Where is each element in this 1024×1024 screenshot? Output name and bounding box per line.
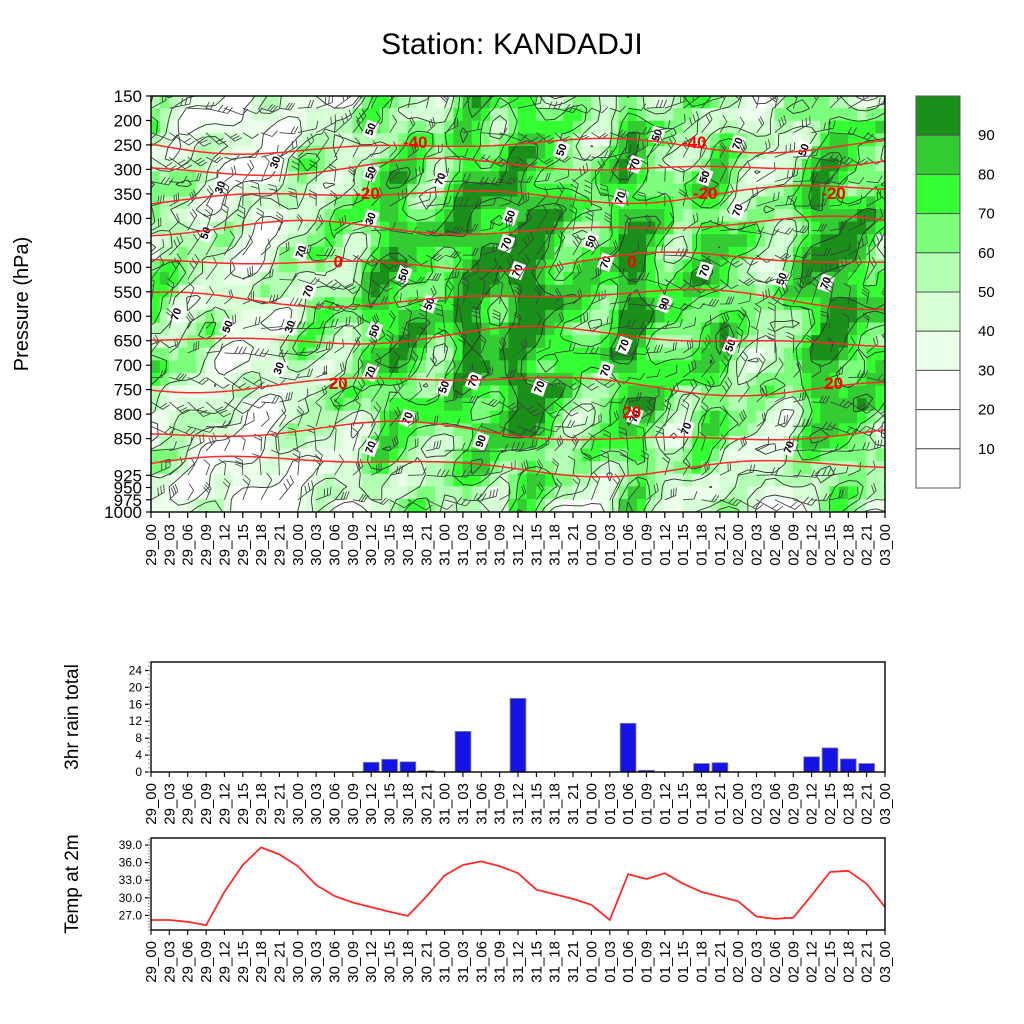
x-tick-label: 01_18 (694, 524, 711, 566)
x-tick-label: 31_06 (473, 783, 490, 825)
temp-tick-label: 36.0 (119, 856, 143, 870)
x-tick-label: 30_15 (382, 524, 399, 566)
colorbar-tick-label: 10 (978, 441, 995, 458)
x-tick-label: 31_21 (565, 941, 582, 983)
x-tick-label: 30_03 (308, 941, 325, 983)
temperature-contour-label: 0 (627, 252, 636, 271)
x-tick-label: 01_21 (712, 941, 729, 983)
rain-tick-label: 20 (129, 680, 143, 694)
x-tick-label: 02_09 (785, 941, 802, 983)
rain-x-axis: 29_0029_0329_0629_0929_1229_1529_1829_21… (143, 772, 894, 825)
rain-bar (510, 698, 526, 772)
x-tick-label: 02_09 (785, 783, 802, 825)
pressure-tick-label: 800 (114, 405, 142, 424)
rain-bar (712, 763, 728, 772)
x-tick-label: 01_21 (712, 524, 729, 566)
x-tick-label: 02_21 (859, 783, 876, 825)
x-tick-label: 29_12 (216, 524, 233, 566)
x-tick-label: 29_00 (143, 524, 160, 566)
x-tick-label: 30_18 (400, 941, 417, 983)
x-tick-label: 31_03 (455, 783, 472, 825)
x-tick-label: 30_15 (382, 941, 399, 983)
temperature-contour-label: 20 (329, 374, 348, 393)
x-tick-label: 29_18 (253, 941, 270, 983)
x-tick-label: 01_21 (712, 783, 729, 825)
pressure-tick-label: 850 (114, 430, 142, 449)
x-tick-label: 30_18 (400, 524, 417, 566)
temperature-contour-label: -20 (355, 184, 380, 203)
x-tick-label: 30_03 (308, 783, 325, 825)
x-tick-label: 31_03 (455, 524, 472, 566)
x-tick-label: 29_21 (271, 524, 288, 566)
pressure-axis: 1502002503003504004505005506006507007508… (104, 87, 151, 522)
pressure-tick-label: 150 (114, 87, 142, 106)
colorbar-tick-label: 90 (978, 127, 995, 144)
temp-tick-label: 39.0 (119, 838, 143, 852)
temp-tick-label: 27.0 (119, 908, 143, 922)
x-tick-label: 29_21 (271, 941, 288, 983)
colorbar: 908070605040302010 (916, 96, 995, 488)
x-tick-label: 02_06 (767, 941, 784, 983)
x-tick-label: 02_21 (859, 941, 876, 983)
x-tick-label: 31_00 (437, 783, 454, 825)
x-tick-label: 30_12 (363, 783, 380, 825)
x-tick-label: 30_00 (290, 941, 307, 983)
temp-tick-label: 33.0 (119, 873, 143, 887)
x-tick-label: 29_03 (161, 783, 178, 825)
rain-tick-label: 4 (135, 748, 142, 762)
rain-bar (804, 757, 820, 772)
x-tick-label: 02_09 (785, 524, 802, 566)
x-tick-label: 29_21 (271, 783, 288, 825)
pressure-tick-label: 400 (114, 209, 142, 228)
x-tick-label: 29_00 (143, 783, 160, 825)
x-tick-label: 30_21 (418, 941, 435, 983)
x-tick-label: 30_21 (418, 783, 435, 825)
x-tick-label: 03_00 (877, 524, 894, 566)
x-tick-label: 02_21 (859, 524, 876, 566)
x-tick-label: 02_12 (804, 524, 821, 566)
x-tick-label: 29_03 (161, 524, 178, 566)
x-tick-label: 01_03 (602, 941, 619, 983)
x-tick-label: 01_00 (583, 941, 600, 983)
rain-axis-label: 3hr rain total (62, 664, 83, 770)
x-tick-label: 30_15 (382, 783, 399, 825)
x-tick-label: 31_12 (510, 783, 527, 825)
x-tick-label: 29_00 (143, 941, 160, 983)
x-tick-label: 02_12 (804, 941, 821, 983)
x-tick-label: 31_15 (528, 524, 545, 566)
colorbar-tick-label: 50 (978, 284, 995, 301)
rain-tick-label: 8 (135, 731, 142, 745)
x-tick-label: 31_09 (492, 941, 509, 983)
x-tick-label: 02_00 (730, 524, 747, 566)
rain-bar (620, 723, 636, 772)
x-tick-label: 31_00 (437, 524, 454, 566)
x-tick-label: 29_03 (161, 941, 178, 983)
x-tick-label: 31_21 (565, 524, 582, 566)
colorbar-tick-label: 60 (978, 245, 995, 262)
x-tick-label: 30_09 (345, 941, 362, 983)
colorbar-tick-label: 80 (978, 166, 995, 183)
x-tick-label: 30_06 (327, 941, 344, 983)
x-tick-label: 01_09 (639, 941, 656, 983)
temperature-contour-label: -40 (682, 133, 707, 152)
x-tick-label: 30_12 (363, 524, 380, 566)
x-tick-label: 29_15 (235, 783, 252, 825)
page-title: Station: KANDADJI (0, 28, 1024, 62)
pressure-tick-label: 550 (114, 283, 142, 302)
pressure-tick-label: 450 (114, 234, 142, 253)
temp-plot-background (151, 838, 885, 930)
x-tick-label: 29_18 (253, 524, 270, 566)
pressure-tick-label: 500 (114, 258, 142, 277)
temp-y-axis: 27.030.033.036.039.0 (119, 838, 151, 930)
x-tick-label: 01_18 (694, 783, 711, 825)
x-tick-label: 03_00 (877, 941, 894, 983)
upper-panel: 5030305070503050707050907050305070507070… (0, 78, 1024, 618)
x-tick-label: 29_12 (216, 783, 233, 825)
x-tick-label: 02_15 (822, 783, 839, 825)
x-tick-label: 29_06 (180, 524, 197, 566)
x-tick-label: 31_00 (437, 941, 454, 983)
rain-bar (363, 762, 379, 772)
rain-tick-label: 0 (135, 765, 142, 779)
x-tick-label: 31_12 (510, 524, 527, 566)
lower-panels: 048121620243hr rain total29_0029_0329_06… (0, 640, 1024, 1024)
x-tick-label: 02_03 (749, 524, 766, 566)
x-tick-label: 31_12 (510, 941, 527, 983)
temp-x-axis: 29_0029_0329_0629_0929_1229_1529_1829_21… (143, 930, 894, 983)
x-tick-label: 30_18 (400, 783, 417, 825)
colorbar-tick-label: 20 (978, 402, 995, 419)
colorbar-tick-label: 40 (978, 323, 995, 340)
screenshot-root: Station: KANDADJI 5030305070503050707050… (0, 0, 1024, 1024)
x-tick-label: 30_06 (327, 524, 344, 566)
pressure-tick-label: 200 (114, 112, 142, 131)
x-tick-label: 02_03 (749, 941, 766, 983)
pressure-tick-label: 750 (114, 381, 142, 400)
x-tick-label: 01_12 (657, 941, 674, 983)
x-tick-label: 01_06 (620, 783, 637, 825)
temperature-contour-label: -20 (693, 184, 718, 203)
pressure-tick-label: 600 (114, 307, 142, 326)
x-tick-label: 31_15 (528, 783, 545, 825)
x-tick-label: 01_09 (639, 524, 656, 566)
x-tick-label: 31_06 (473, 524, 490, 566)
x-tick-label: 01_18 (694, 941, 711, 983)
x-tick-label: 01_12 (657, 524, 674, 566)
x-tick-label: 29_09 (198, 941, 215, 983)
x-tick-label: 01_03 (602, 524, 619, 566)
temp-tick-label: 30.0 (119, 891, 143, 905)
x-tick-label: 31_09 (492, 783, 509, 825)
x-tick-label: 31_09 (492, 524, 509, 566)
x-tick-label: 02_15 (822, 941, 839, 983)
x-tick-label: 01_06 (620, 524, 637, 566)
x-tick-label: 31_06 (473, 941, 490, 983)
x-tick-label: 02_03 (749, 783, 766, 825)
x-tick-label: 29_09 (198, 524, 215, 566)
x-tick-label: 01_15 (675, 783, 692, 825)
pressure-tick-label: 350 (114, 185, 142, 204)
x-tick-label: 31_18 (547, 941, 564, 983)
rain-bar (822, 748, 838, 772)
x-tick-label: 29_06 (180, 783, 197, 825)
rain-tick-label: 16 (129, 697, 143, 711)
x-tick-label: 01_15 (675, 941, 692, 983)
temp-axis-label: Temp at 2m (62, 834, 83, 933)
temperature-contour-label: 0 (333, 252, 342, 271)
rain-bar (400, 762, 416, 772)
x-tick-label: 31_21 (565, 783, 582, 825)
rain-bar (840, 759, 856, 772)
x-tick-label: 01_00 (583, 524, 600, 566)
x-tick-label: 31_18 (547, 524, 564, 566)
pressure-tick-label: 300 (114, 160, 142, 179)
rain-tick-label: 12 (129, 714, 143, 728)
x-tick-label: 02_15 (822, 524, 839, 566)
x-tick-label: 01_00 (583, 783, 600, 825)
x-tick-label: 02_18 (840, 941, 857, 983)
x-axis: 29_0029_0329_0629_0929_1229_1529_1829_21… (143, 512, 894, 566)
x-tick-label: 30_06 (327, 783, 344, 825)
x-tick-label: 30_00 (290, 783, 307, 825)
x-tick-label: 02_06 (767, 783, 784, 825)
x-tick-label: 29_06 (180, 941, 197, 983)
x-tick-label: 01_03 (602, 783, 619, 825)
rain-bar (694, 764, 710, 773)
x-tick-label: 02_18 (840, 783, 857, 825)
temperature-contour-label: 20 (622, 403, 641, 422)
x-tick-label: 30_03 (308, 524, 325, 566)
rain-bar (455, 731, 471, 772)
rain-y-axis: 04812162024 (129, 662, 151, 779)
temperature-contour-label: -20 (821, 184, 846, 203)
x-tick-label: 29_18 (253, 783, 270, 825)
rain-bar (859, 764, 875, 773)
temperature-contour-label: -40 (403, 133, 428, 152)
x-tick-label: 02_06 (767, 524, 784, 566)
x-tick-label: 30_09 (345, 783, 362, 825)
x-tick-label: 30_00 (290, 524, 307, 566)
x-tick-label: 02_00 (730, 783, 747, 825)
pressure-tick-label: 1000 (104, 503, 142, 522)
x-tick-label: 29_12 (216, 941, 233, 983)
x-tick-label: 02_12 (804, 783, 821, 825)
x-tick-label: 29_15 (235, 524, 252, 566)
x-tick-label: 31_03 (455, 941, 472, 983)
temperature-contour-label: 20 (824, 374, 843, 393)
x-tick-label: 29_15 (235, 941, 252, 983)
x-tick-label: 02_18 (840, 524, 857, 566)
x-tick-label: 01_06 (620, 941, 637, 983)
rain-bar (382, 759, 398, 772)
x-tick-label: 31_18 (547, 783, 564, 825)
x-tick-label: 01_15 (675, 524, 692, 566)
x-tick-label: 03_00 (877, 783, 894, 825)
pressure-tick-label: 250 (114, 136, 142, 155)
pressure-axis-label: Pressure (hPa) (11, 237, 33, 372)
x-tick-label: 02_00 (730, 941, 747, 983)
x-tick-label: 31_15 (528, 941, 545, 983)
x-tick-label: 01_12 (657, 783, 674, 825)
rain-tick-label: 24 (129, 664, 143, 678)
x-tick-label: 30_12 (363, 941, 380, 983)
colorbar-tick-label: 70 (978, 206, 995, 223)
pressure-tick-label: 700 (114, 356, 142, 375)
x-tick-label: 30_21 (418, 524, 435, 566)
colorbar-tick-label: 30 (978, 362, 995, 379)
pressure-tick-label: 650 (114, 332, 142, 351)
x-tick-label: 30_09 (345, 524, 362, 566)
x-tick-label: 01_09 (639, 783, 656, 825)
x-tick-label: 29_09 (198, 783, 215, 825)
